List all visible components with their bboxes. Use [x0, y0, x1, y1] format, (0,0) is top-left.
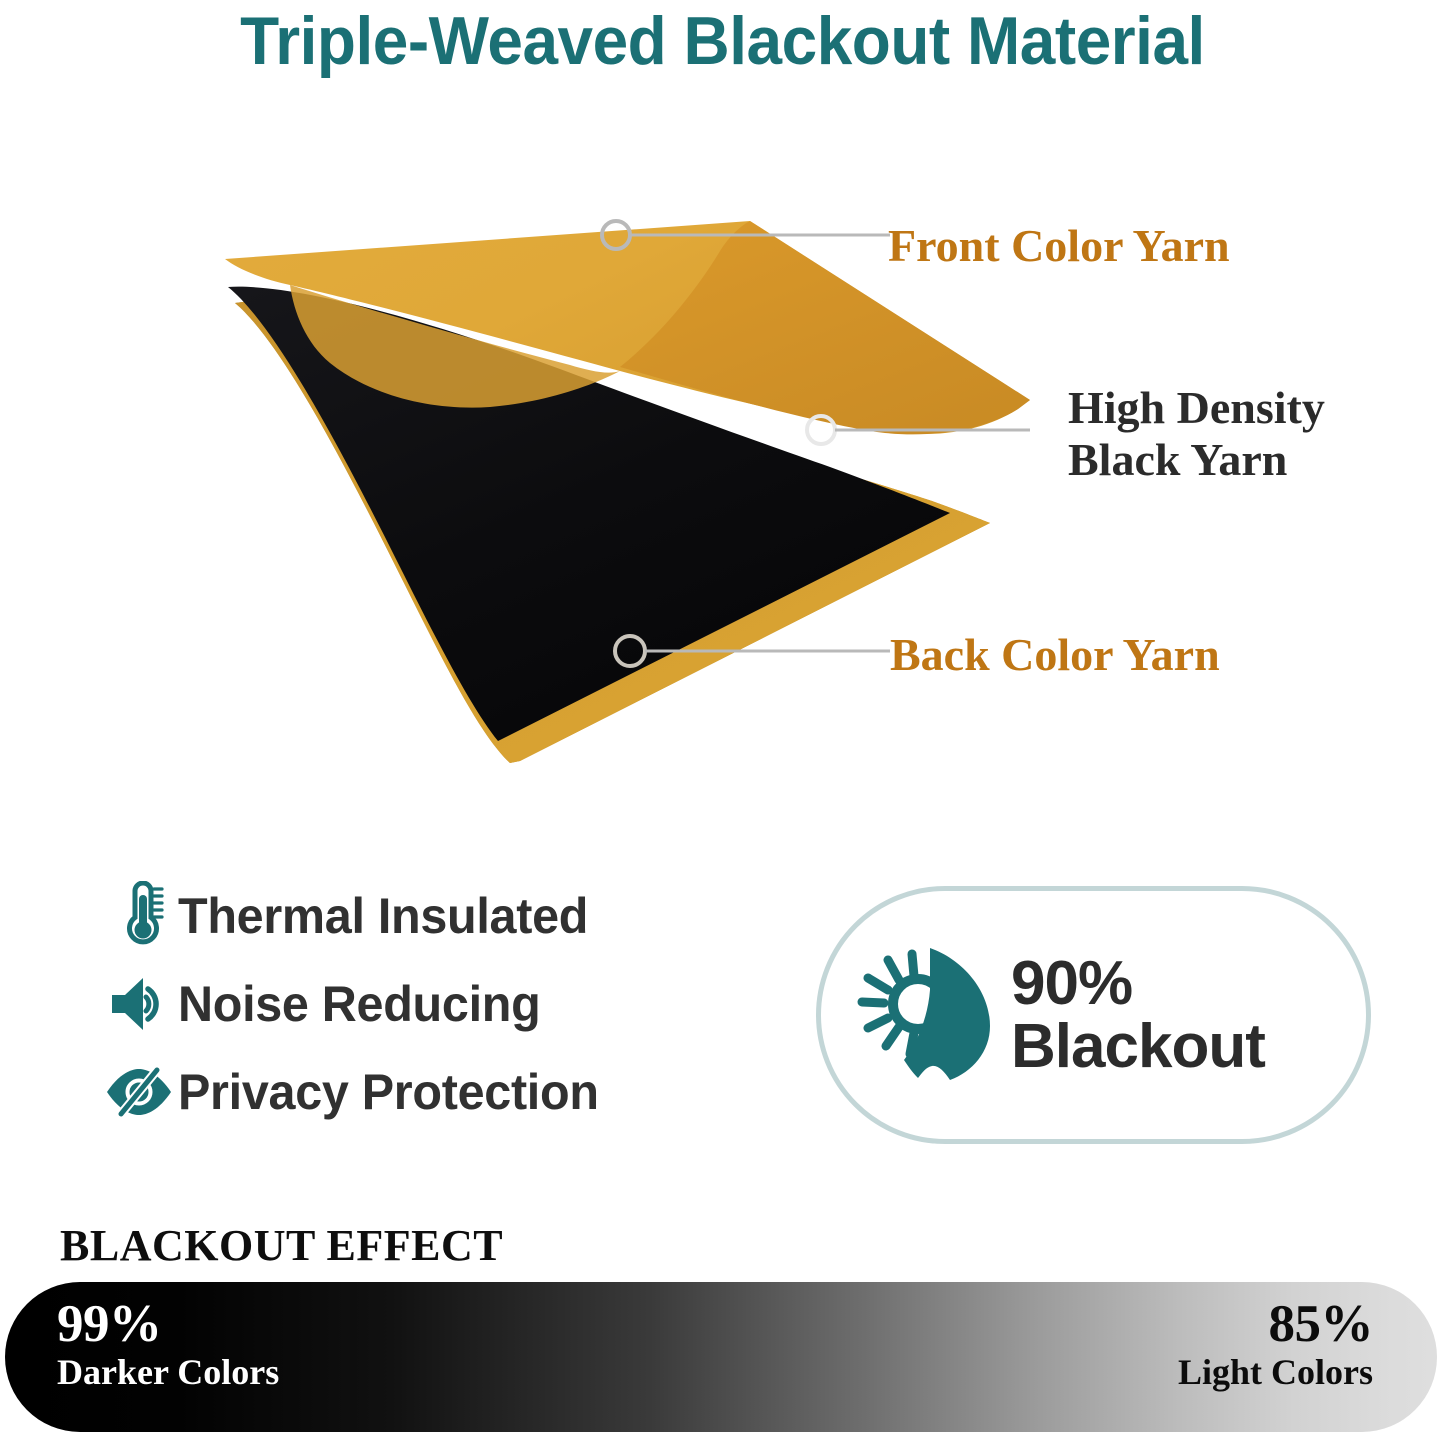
feature-label: Noise Reducing — [178, 976, 540, 1032]
page-title: Triple-Weaved Blackout Material — [43, 2, 1401, 80]
badge-word: Blackout — [1011, 1015, 1265, 1078]
feature-item-thermal-insulated: Thermal Insulated — [100, 872, 750, 960]
stat-percent: 85% — [1178, 1297, 1373, 1352]
callout-label-high-density-black-yarn: High Density Black Yarn — [1068, 382, 1325, 486]
eye-slash-icon — [100, 1066, 178, 1118]
feature-label: Privacy Protection — [178, 1064, 599, 1120]
blackout-percentage-badge: 90% Blackout — [816, 886, 1371, 1144]
thermometer-icon — [100, 881, 178, 951]
feature-item-noise-reducing: Noise Reducing — [100, 960, 750, 1048]
badge-text-block: 90% Blackout — [1011, 952, 1265, 1078]
callout-label-line-2: Black Yarn — [1068, 434, 1325, 486]
badge-percent: 90% — [1011, 952, 1265, 1015]
feature-label: Thermal Insulated — [178, 888, 588, 944]
stat-label: Light Colors — [1178, 1352, 1373, 1392]
stat-percent: 99% — [57, 1297, 279, 1352]
blackout-stat-light-colors: 85% Light Colors — [1178, 1297, 1373, 1392]
blackout-effect-heading: BLACKOUT EFFECT — [60, 1221, 503, 1271]
sun-blocked-by-curtain-icon — [821, 940, 1011, 1090]
feature-item-privacy-protection: Privacy Protection — [100, 1048, 750, 1136]
callout-label-line-1: High Density — [1068, 382, 1325, 434]
feature-list: Thermal Insulated Noise Reducing Privacy… — [100, 872, 750, 1136]
speaker-sound-icon — [100, 975, 178, 1033]
callout-label-back-color-yarn: Back Color Yarn — [890, 627, 1220, 683]
stat-label: Darker Colors — [57, 1352, 279, 1392]
callout-label-front-color-yarn: Front Color Yarn — [888, 218, 1230, 274]
blackout-stat-darker-colors: 99% Darker Colors — [57, 1297, 279, 1392]
